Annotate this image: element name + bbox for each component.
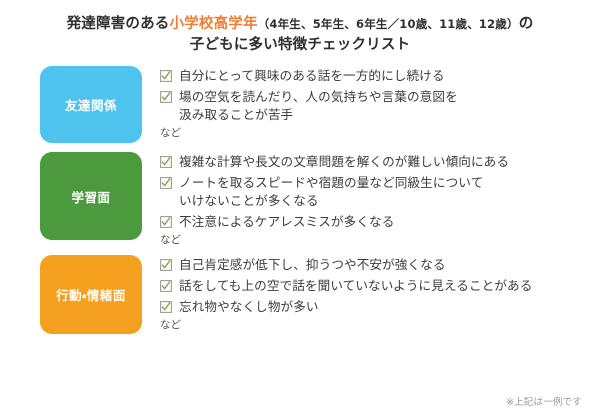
item-text: 話をしても上の空で話を聞いていないように見えることがある <box>179 277 532 295</box>
item-text: 自分にとって興味のある話を一方的にし続ける <box>179 67 445 85</box>
item-text-line-2: いけないことが多くなる <box>179 192 483 210</box>
title-line-1: 発達障害のある小学校高学年（4年生、5年生、6年生／10歳、11歳、12歳）の <box>0 14 600 35</box>
category-badge-behavior-emotion: 行動・情緒面 <box>40 255 142 334</box>
list-item[interactable]: ノートを取るスピードや宿題の量など同級生について いけないことが多くなる <box>160 174 600 210</box>
item-list: 複雑な計算や長文の文章問題を解くのが難しい傾向にある ノートを取るスピードや宿題… <box>142 152 600 246</box>
item-text-line-1: 場の空気を読んだり、人の気持ちや言葉の意図を <box>179 89 458 104</box>
title-line-2: 子どもに多い特徴チェックリスト <box>0 35 600 56</box>
item-text-line-1: 忘れ物やなくし物が多い <box>179 299 319 314</box>
item-list: 自分にとって興味のある話を一方的にし続ける 場の空気を読んだり、人の気持ちや言葉… <box>142 66 600 139</box>
title-parenthetical: （4年生、5年生、6年生／10歳、11歳、12歳） <box>258 17 519 31</box>
category-label: 行動・情緒面 <box>56 285 126 304</box>
list-item[interactable]: 自己肯定感が低下し、抑うつや不安が強くなる <box>160 256 600 274</box>
checkbox-checked-icon[interactable] <box>160 156 172 168</box>
checkbox-checked-icon[interactable] <box>160 259 172 271</box>
checkbox-checked-icon[interactable] <box>160 70 172 82</box>
item-text: ノートを取るスピードや宿題の量など同級生について いけないことが多くなる <box>179 174 483 210</box>
checklist-sections: 友達関係 自分にとって興味のある話を一方的にし続ける <box>0 66 600 334</box>
list-item[interactable]: 自分にとって興味のある話を一方的にし続ける <box>160 67 600 85</box>
list-item[interactable]: 不注意によるケアレスミスが多くなる <box>160 213 600 231</box>
etc-label: など <box>160 234 600 247</box>
item-text: 場の空気を読んだり、人の気持ちや言葉の意図を 汲み取ることが苦手 <box>179 88 458 124</box>
item-list: 自己肯定感が低下し、抑うつや不安が強くなる 話をしても上の空で話を聞いていないよ… <box>142 255 600 331</box>
item-text-line-1: 自己肯定感が低下し、抑うつや不安が強くなる <box>179 257 446 272</box>
title-prefix: 発達障害のある <box>67 16 170 32</box>
page-title: 発達障害のある小学校高学年（4年生、5年生、6年生／10歳、11歳、12歳）の … <box>0 0 600 56</box>
etc-label: など <box>160 319 600 332</box>
item-text: 複雑な計算や長文の文章問題を解くのが難しい傾向にある <box>179 153 509 171</box>
checklist-infographic: 発達障害のある小学校高学年（4年生、5年生、6年生／10歳、11歳、12歳）の … <box>0 0 600 420</box>
category-label: 学習面 <box>71 187 110 206</box>
category-label: 友達関係 <box>65 95 117 114</box>
list-item[interactable]: 忘れ物やなくし物が多い <box>160 298 600 316</box>
etc-label: など <box>160 127 600 140</box>
category-badge-learning: 学習面 <box>40 152 142 240</box>
item-text: 自己肯定感が低下し、抑うつや不安が強くなる <box>179 256 446 274</box>
item-text-line-1: 自分にとって興味のある話を一方的にし続ける <box>179 68 445 83</box>
item-text-line-1: 話をしても上の空で話を聞いていないように見えることがある <box>179 278 532 293</box>
title-suffix: の <box>519 16 534 32</box>
list-item[interactable]: 複雑な計算や長文の文章問題を解くのが難しい傾向にある <box>160 153 600 171</box>
title-accent-text: 小学校高学年 <box>169 16 257 32</box>
category-badge-friend-relations: 友達関係 <box>40 66 142 143</box>
item-text: 不注意によるケアレスミスが多くなる <box>179 213 394 231</box>
item-text-line-1: 複雑な計算や長文の文章問題を解くのが難しい傾向にある <box>179 154 509 169</box>
item-text-line-2: 汲み取ることが苦手 <box>179 106 458 124</box>
section-learning: 学習面 複雑な計算や長文の文章問題を解くのが難しい傾向にある <box>40 152 600 246</box>
checkbox-checked-icon[interactable] <box>160 177 172 189</box>
footnote: ※上記は一例です <box>506 394 582 408</box>
section-behavior-emotion: 行動・情緒面 自己肯定感が低下し、抑うつや不安が強くなる <box>40 255 600 334</box>
checkbox-checked-icon[interactable] <box>160 91 172 103</box>
section-friend-relations: 友達関係 自分にとって興味のある話を一方的にし続ける <box>40 66 600 143</box>
item-text-line-1: 不注意によるケアレスミスが多くなる <box>179 214 394 229</box>
checkbox-checked-icon[interactable] <box>160 280 172 292</box>
item-text-line-1: ノートを取るスピードや宿題の量など同級生について <box>179 175 483 190</box>
list-item[interactable]: 話をしても上の空で話を聞いていないように見えることがある <box>160 277 600 295</box>
item-text: 忘れ物やなくし物が多い <box>179 298 319 316</box>
checkbox-checked-icon[interactable] <box>160 301 172 313</box>
checkbox-checked-icon[interactable] <box>160 216 172 228</box>
list-item[interactable]: 場の空気を読んだり、人の気持ちや言葉の意図を 汲み取ることが苦手 <box>160 88 600 124</box>
